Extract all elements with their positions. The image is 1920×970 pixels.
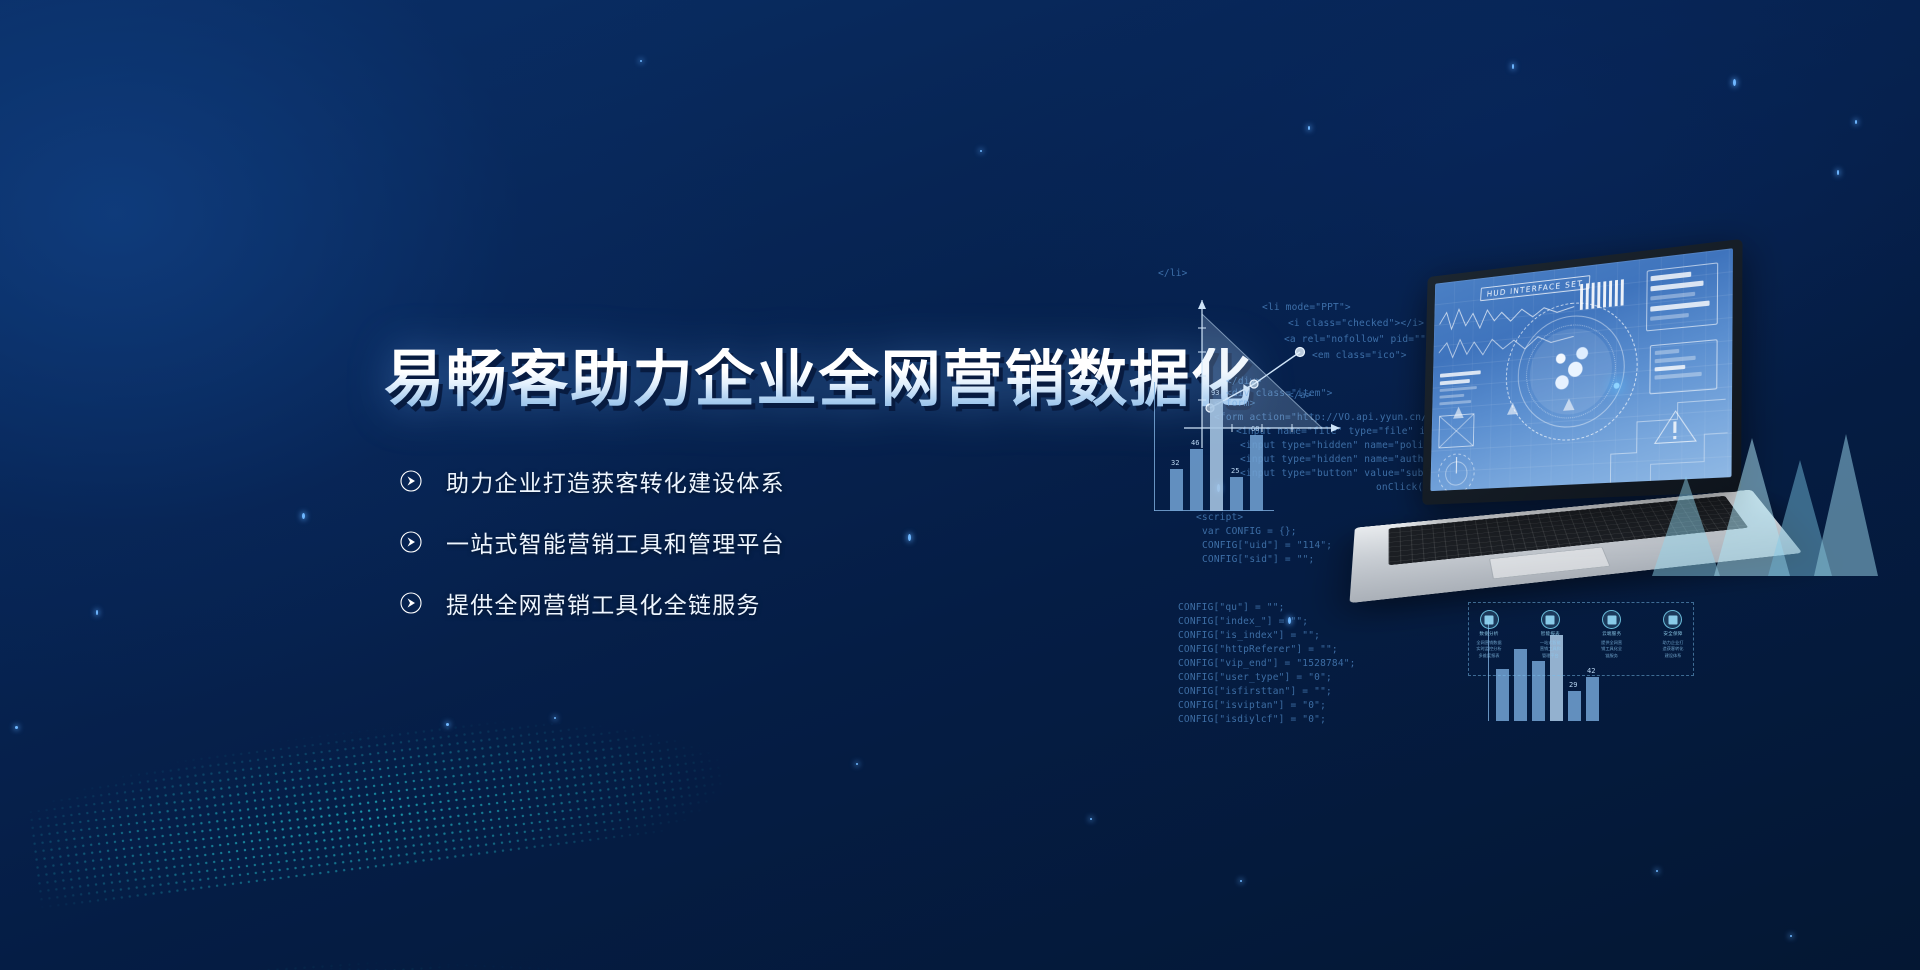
star-particle (1837, 170, 1839, 175)
bar-label: 29 (1569, 681, 1577, 689)
star-particle (302, 513, 305, 519)
code-line: CONFIG["qu"] = ""; (1178, 602, 1285, 613)
hero-banner: 易畅客助力企业全网营销数据化 助力企业打造获客转化建设体系 一站式智能营销工具和… (0, 0, 1920, 970)
star-particle (554, 717, 556, 719)
star-particle (980, 150, 982, 152)
circled-arrow-icon (400, 592, 422, 614)
code-line: CONFIG["vip_end"] = "1528784"; (1178, 658, 1356, 669)
star-particle (446, 723, 449, 726)
bar (1250, 435, 1263, 511)
bar (1230, 477, 1243, 511)
star-particle (640, 60, 642, 62)
bar-label: 60 (1251, 425, 1259, 433)
feature-icon-body: 助力企业打 造获客转化 建设体系 (1660, 640, 1686, 659)
feature-icon-item[interactable]: 安全保障 助力企业打 造获客转化 建设体系 (1660, 610, 1686, 670)
code-line: CONFIG["isdiylcf"] = "0"; (1178, 714, 1326, 725)
code-line: CONFIG["isfirsttan"] = ""; (1178, 686, 1332, 697)
star-particle (1656, 870, 1658, 872)
star-particle (1512, 64, 1514, 69)
bar-chart-left: 32 46 93 25 60 (1154, 375, 1274, 525)
code-line: CONFIG["uid"] = "114"; (1202, 540, 1332, 551)
list-item[interactable]: 提供全网营销工具化全链服务 (400, 582, 785, 623)
lock-icon (1663, 610, 1682, 629)
bar (1586, 677, 1599, 721)
bar-label: 25 (1231, 467, 1239, 475)
bar-group-glyph (1580, 276, 1637, 312)
list-item-label: 一站式智能营销工具和管理平台 (446, 525, 785, 559)
tech-illustration: </li> <li mode="PPT"> <i class="checked"… (1140, 250, 1920, 730)
cloud-icon (1602, 610, 1621, 629)
feature-icon-body: 全网营销数据 实时监控分析 多维度报表 (1476, 640, 1502, 659)
chart-axis-y (1154, 382, 1155, 511)
bar-label: 32 (1171, 459, 1179, 467)
list-item[interactable]: 一站式智能营销工具和管理平台 (400, 521, 785, 562)
feature-icon-item[interactable]: 云端服务 提供全网营 销工具化全 链服务 (1599, 610, 1625, 670)
star-particle (1240, 880, 1242, 882)
wave-layer-mid (0, 695, 1500, 970)
star-particle (1733, 79, 1736, 86)
circled-arrow-icon (400, 531, 422, 553)
bar-label: 46 (1191, 439, 1199, 447)
circled-arrow-icon (400, 470, 422, 492)
feature-icon-caption: 云端服务 (1599, 631, 1625, 637)
feature-icon-caption: 安全保障 (1660, 631, 1686, 637)
code-line: CONFIG["httpReferer"] = ""; (1178, 644, 1338, 655)
star-particle (856, 763, 858, 765)
star-particle (1308, 126, 1310, 130)
star-particle (908, 534, 911, 541)
code-line: CONFIG["index_"] = ""; (1178, 616, 1308, 627)
star-particle (1090, 818, 1092, 820)
analytics-icon (1480, 610, 1499, 629)
code-line: CONFIG["is_index"] = ""; (1178, 630, 1320, 641)
feature-icon-caption: 数据分析 (1476, 631, 1502, 637)
feature-icon-item[interactable]: 数据分析 全网营销数据 实时监控分析 多维度报表 (1476, 610, 1502, 670)
code-line: CONFIG["sid"] = ""; (1202, 554, 1314, 565)
feature-icon-body: 提供全网营 销工具化全 链服务 (1599, 640, 1625, 659)
page-title: 易畅客助力企业全网营销数据化 (384, 348, 1253, 410)
code-line: CONFIG["user_type"] = "0"; (1178, 672, 1332, 683)
feature-icon-caption: 智能报表 (1537, 631, 1563, 637)
star-particle (1855, 120, 1857, 124)
bar (1568, 691, 1581, 721)
feature-icon-row: 数据分析 全网营销数据 实时监控分析 多维度报表 智能报表 一站式智能 营销工具… (1476, 610, 1686, 670)
bar (1210, 399, 1223, 511)
list-item-label: 提供全网营销工具化全链服务 (446, 586, 761, 620)
feature-list: 助力企业打造获客转化建设体系 一站式智能营销工具和管理平台 提供全网营销工具化全… (400, 460, 785, 643)
star-particle (1790, 935, 1792, 937)
laptop-device: HUD INTERFACE SET (1318, 258, 1788, 598)
list-item[interactable]: 助力企业打造获客转化建设体系 (400, 460, 785, 501)
bar (1190, 449, 1203, 511)
bar-label: 93 (1211, 389, 1219, 397)
star-particle (96, 610, 98, 615)
bar (1170, 469, 1183, 511)
wave-layer-back (160, 739, 1500, 970)
chart-icon (1541, 610, 1560, 629)
code-line: CONFIG["isviptan"] = "0"; (1178, 700, 1326, 711)
mountain-peaks-overlay (1618, 398, 1878, 578)
feature-icon-body: 一站式智能 营销工具和 管理平台 (1537, 640, 1563, 659)
data-panel (1646, 262, 1718, 331)
bar (1496, 669, 1509, 721)
list-item-label: 助力企业打造获客转化建设体系 (446, 464, 785, 498)
code-line: var CONFIG = {}; (1202, 526, 1297, 537)
dial-gauge-icon (1435, 450, 1477, 491)
star-particle (15, 726, 18, 729)
feature-icon-item[interactable]: 智能报表 一站式智能 营销工具和 管理平台 (1537, 610, 1563, 670)
